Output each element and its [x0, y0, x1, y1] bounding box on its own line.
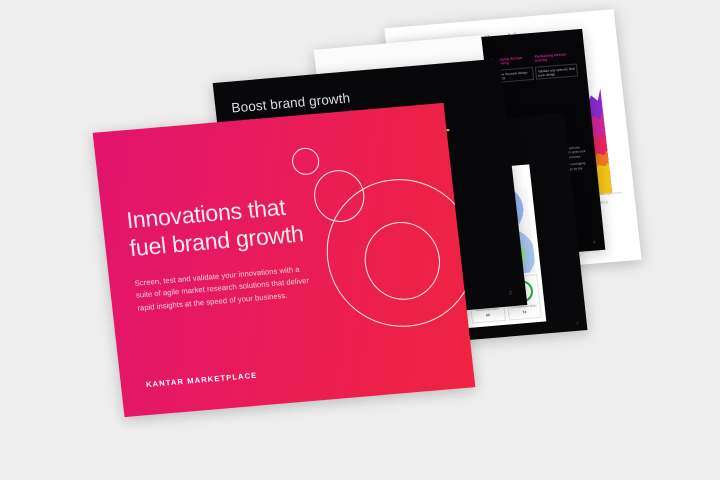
- cover-title: Innovations that fuel brand growth: [125, 188, 351, 263]
- circle-outline-small: [291, 147, 321, 176]
- table-cell: Validate and optimise final pack design: [535, 63, 578, 80]
- kantar-marketplace-logo: KANTAR MARKETPLACE: [146, 371, 258, 389]
- metric-value: 60: [486, 313, 490, 317]
- slide-page-number: 4: [593, 239, 596, 244]
- slide-cover[interactable]: Innovations that fuel brand growth Scree…: [93, 103, 476, 417]
- metric-value: 74: [522, 310, 526, 314]
- cover-body: Screen, test and validate your innovatio…: [134, 262, 320, 314]
- slide-page-number: 2: [509, 290, 512, 296]
- slide-stack-scene: Successful innovation drives brand perfo…: [0, 0, 720, 480]
- slide-page-number: 7: [576, 321, 579, 326]
